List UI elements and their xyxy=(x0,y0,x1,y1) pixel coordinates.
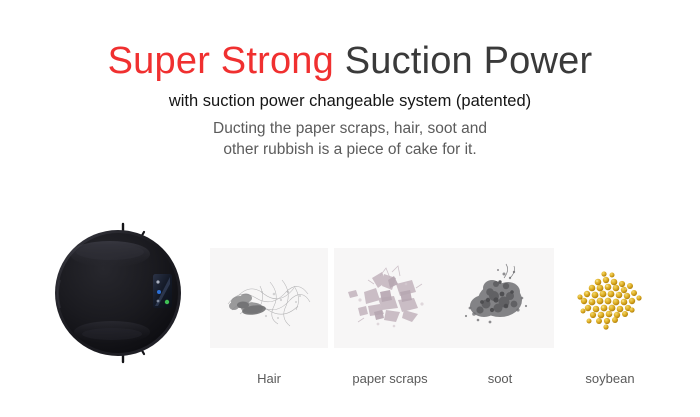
panel-indicator-blue-icon xyxy=(157,290,161,294)
debris-sample-hair xyxy=(210,248,328,348)
debris-sample-paper-scraps xyxy=(334,248,446,348)
debris-label-paper-scraps: paper scraps xyxy=(334,370,446,388)
debris-label-hair: Hair xyxy=(210,370,328,388)
debris-sample-soot-panel xyxy=(446,248,554,348)
soot-debris-illustration xyxy=(446,248,554,348)
debris-sample-hair-panel xyxy=(210,248,328,348)
soybean-debris-illustration xyxy=(554,248,666,348)
vacuum-bottom-gloss-inner xyxy=(82,328,142,340)
promo-banner: Super Strong Suction Power with suction … xyxy=(0,0,700,417)
body-copy: Ducting the paper scraps, hair, soot and… xyxy=(0,118,700,160)
panel-indicator-green-icon xyxy=(165,300,169,304)
debris-label-soybean: soybean xyxy=(554,370,666,388)
debris-sample-soot xyxy=(446,248,554,348)
robot-vacuum-image xyxy=(52,222,192,364)
debris-sample-soybean xyxy=(554,248,666,348)
debris-sample-paper-scraps-panel xyxy=(334,248,446,348)
debris-samples-row xyxy=(210,248,680,348)
debris-sample-soybean-panel xyxy=(554,248,666,348)
panel-indicator-white xyxy=(156,280,159,283)
page-title-rest: Suction Power xyxy=(334,40,592,82)
debris-label-soot: soot xyxy=(446,370,554,388)
control-panel[interactable] xyxy=(153,274,172,308)
subtitle: with suction power changeable system (pa… xyxy=(0,90,700,112)
panel-indicator-grey xyxy=(157,300,160,303)
paper-scraps-debris-illustration xyxy=(334,248,446,348)
vacuum-top-gloss-inner xyxy=(76,244,144,260)
page-title: Super Strong Suction Power xyxy=(0,38,700,84)
page-title-highlight: Super Strong xyxy=(108,40,334,82)
debris-captions-row: Hair paper scraps soot soybean xyxy=(210,370,680,392)
body-copy-line-2: other rubbish is a piece of cake for it. xyxy=(0,139,700,160)
hair-debris-illustration xyxy=(210,248,328,348)
body-copy-line-1: Ducting the paper scraps, hair, soot and xyxy=(0,118,700,139)
robot-vacuum-illustration xyxy=(52,222,192,364)
